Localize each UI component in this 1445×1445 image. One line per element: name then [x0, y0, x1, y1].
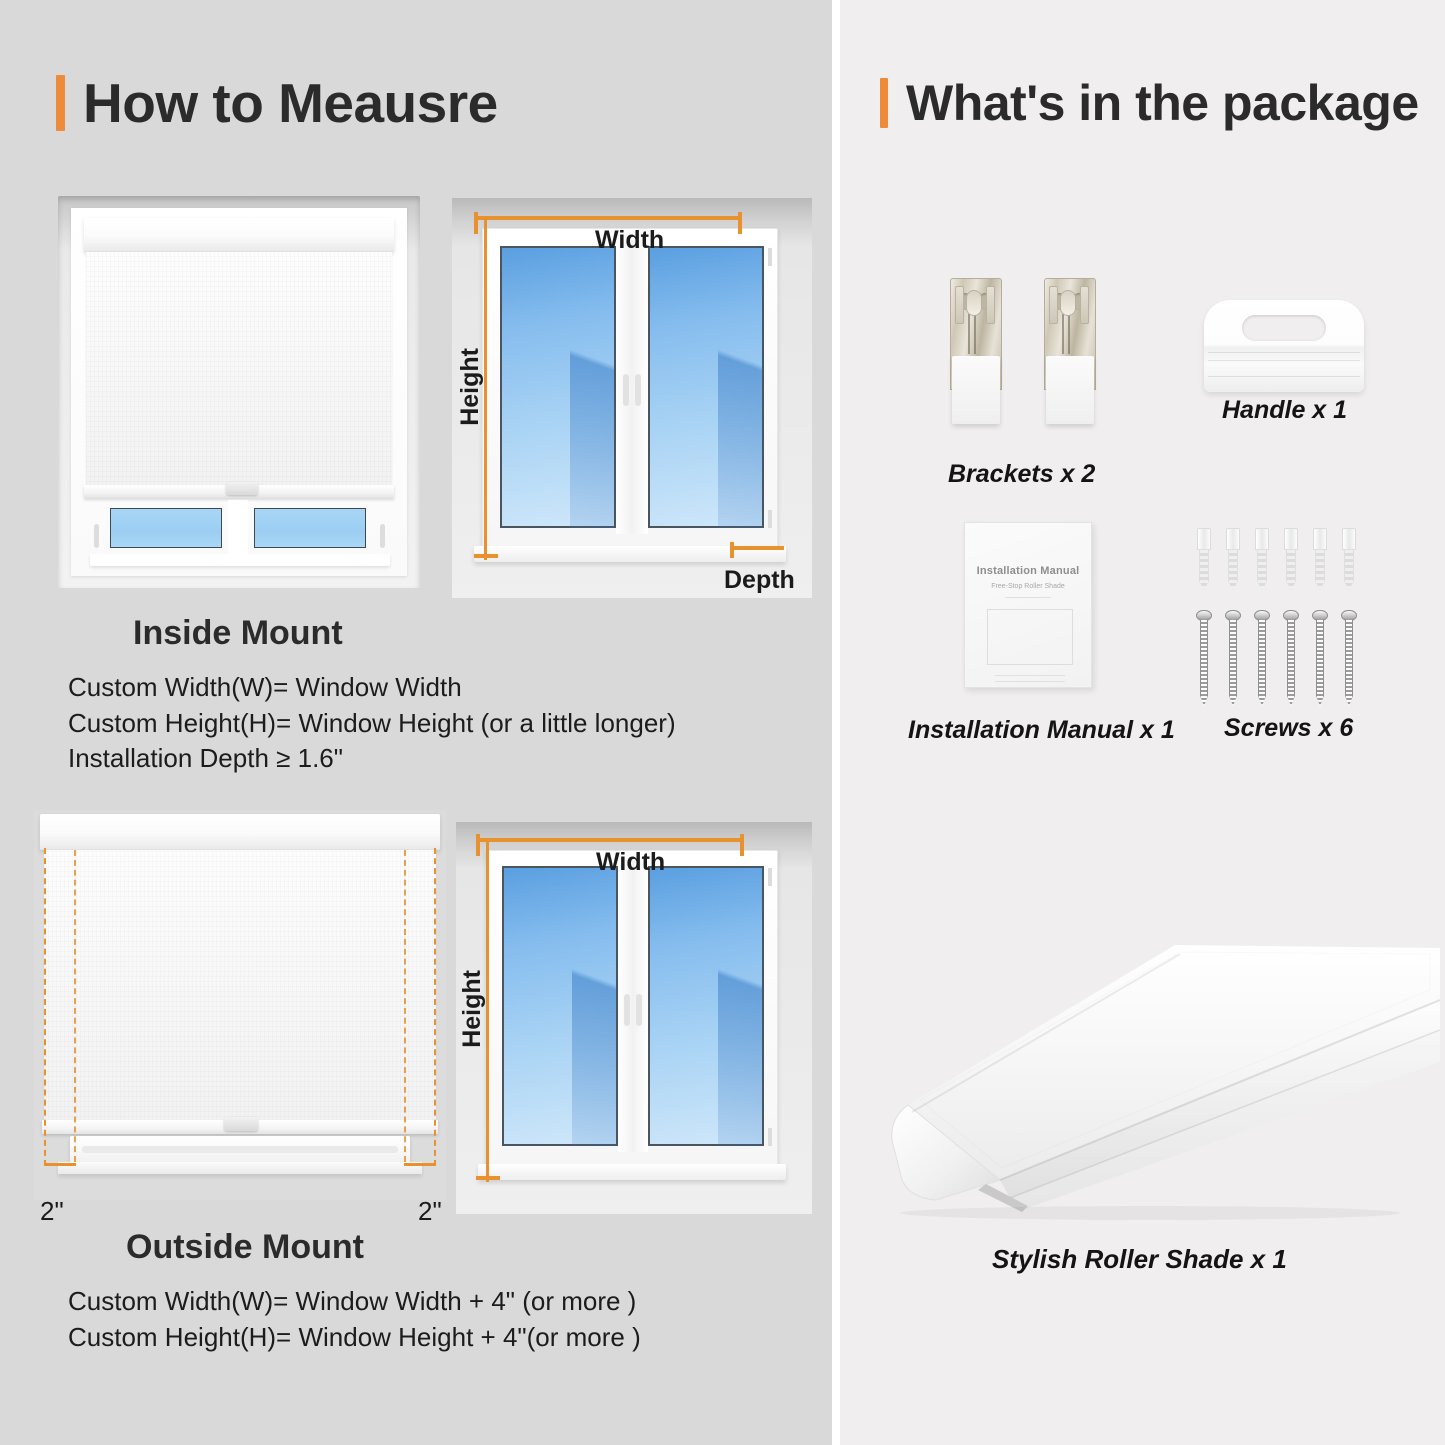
package-title: What's in the package: [906, 78, 1419, 128]
wall-anchor-icon: [1225, 528, 1241, 590]
right-panel-heading: What's in the package: [880, 78, 1419, 128]
screw-icon: [1312, 610, 1328, 706]
roller-shade-label: Stylish Roller Shade x 1: [992, 1244, 1287, 1275]
width-marker: [474, 216, 742, 220]
inside-mount-title: Inside Mount: [133, 614, 343, 653]
sash-handle-icon: [380, 524, 385, 548]
depth-marker: [730, 546, 784, 550]
window-handle-icon: [636, 994, 642, 1026]
roller-shade-icon: [850, 880, 1440, 1220]
manual-icon: Installation Manual Free-Stop Roller Sha…: [964, 522, 1092, 688]
wall-anchor-icon: [1312, 528, 1328, 590]
accent-bar-icon: [880, 78, 888, 128]
handle-label: Handle x 1: [1222, 396, 1347, 425]
inside-mount-line-3: Installation Depth ≥ 1.6": [68, 741, 676, 777]
accent-bar-icon: [56, 75, 65, 131]
label-height: Height: [456, 348, 485, 426]
page-title: How to Meausre: [83, 76, 498, 131]
bracket-icon: [1044, 278, 1096, 428]
outside-mount-window-diagram: Width Height: [456, 822, 812, 1214]
manual-cover-subtitle: Free-Stop Roller Shade: [965, 583, 1091, 590]
width-marker: [476, 838, 744, 842]
wall-anchor-icon: [1341, 528, 1357, 590]
brackets-label: Brackets x 2: [948, 460, 1095, 489]
overhang-label-right: 2": [418, 1196, 442, 1227]
how-to-measure-panel: How to Meausre: [0, 0, 832, 1445]
window-handle-icon: [624, 994, 630, 1026]
inside-mount-line-1: Custom Width(W)= Window Width: [68, 670, 676, 706]
screw-icon: [1225, 610, 1241, 706]
label-width: Width: [596, 848, 665, 877]
handle-icon: [1204, 300, 1364, 392]
overhang-guide-right: [434, 848, 436, 1166]
manual-cover-title: Installation Manual: [965, 565, 1091, 577]
outside-mount-title: Outside Mount: [126, 1228, 364, 1267]
wall-anchor-icon: [1283, 528, 1299, 590]
screw-icon: [1254, 610, 1270, 706]
panel-divider: [832, 0, 840, 1445]
whats-in-package-panel: What's in the package: [840, 0, 1445, 1445]
inside-mount-text: Custom Width(W)= Window Width Custom Hei…: [68, 670, 676, 777]
wall-anchor-icon: [1196, 528, 1212, 590]
outside-mount-shade-illustration: [34, 810, 446, 1200]
screw-icon: [1283, 610, 1299, 706]
manual-label: Installation Manual x 1: [908, 716, 1175, 745]
screw-icon: [1341, 610, 1357, 706]
label-height: Height: [458, 970, 487, 1048]
overhang-label-left: 2": [40, 1196, 64, 1227]
outside-mount-line-1: Custom Width(W)= Window Width + 4" (or m…: [68, 1284, 641, 1320]
screws-label: Screws x 6: [1224, 714, 1353, 743]
outside-mount-line-2: Custom Height(H)= Window Height + 4"(or …: [68, 1320, 641, 1356]
window-handle-icon: [623, 374, 629, 406]
left-panel-heading: How to Meausre: [56, 75, 498, 131]
inside-mount-window-diagram: Width Height Depth: [452, 198, 812, 598]
overhang-guide-left: [44, 848, 46, 1166]
outside-mount-text: Custom Width(W)= Window Width + 4" (or m…: [68, 1284, 641, 1355]
infographic-page: How to Meausre: [0, 0, 1445, 1445]
label-depth: Depth: [724, 566, 795, 595]
inside-mount-line-2: Custom Height(H)= Window Height (or a li…: [68, 706, 676, 742]
label-width: Width: [595, 226, 664, 255]
window-handle-icon: [635, 374, 641, 406]
screw-icon: [1196, 610, 1212, 706]
sash-handle-icon: [94, 524, 99, 548]
wall-anchor-icon: [1254, 528, 1270, 590]
bracket-icon: [950, 278, 1002, 428]
inside-mount-shade-illustration: [58, 196, 420, 588]
roller-shade-svg: [850, 880, 1440, 1220]
